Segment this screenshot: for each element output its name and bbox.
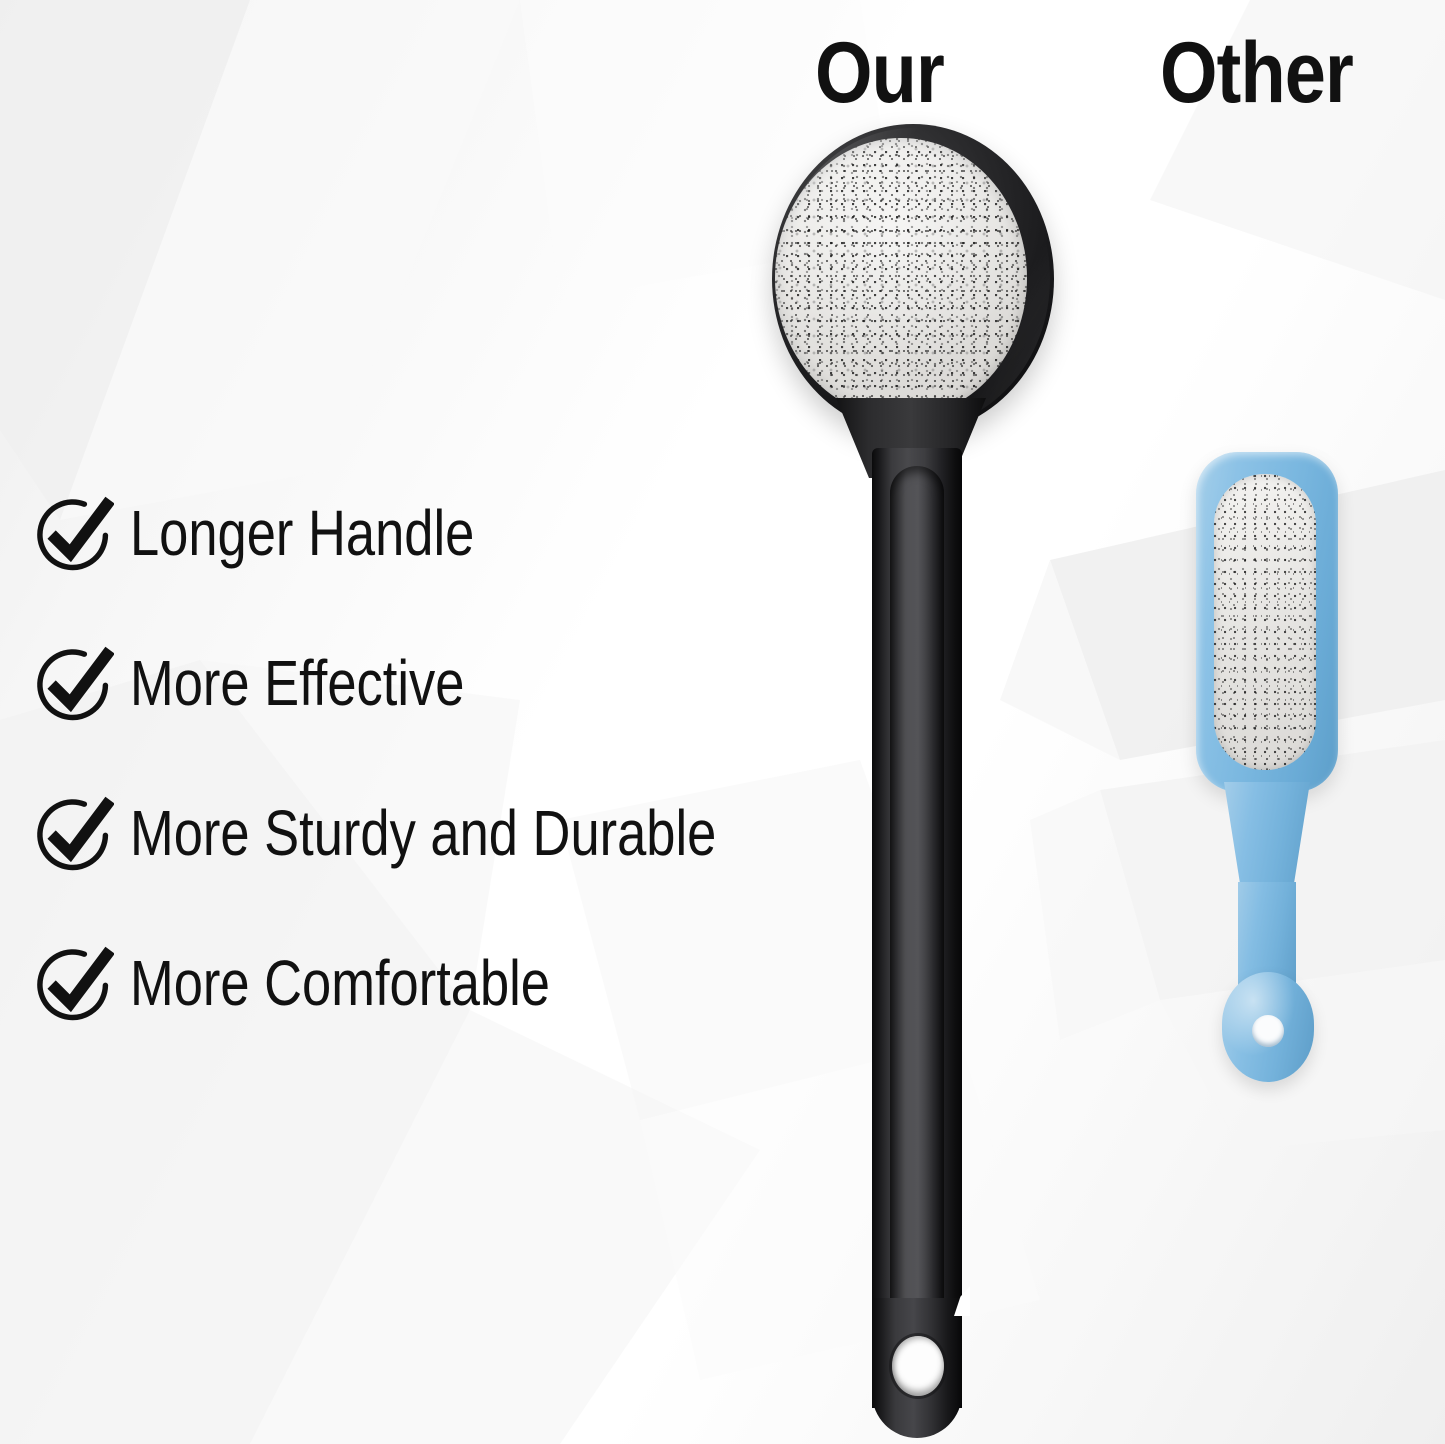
our-hanging-hole — [892, 1336, 944, 1396]
heading-our: Our — [815, 30, 944, 116]
our-handle-groove — [890, 466, 944, 1401]
feature-list: Longer Handle More Effective More Sturdy… — [36, 498, 796, 1098]
other-hanging-hole — [1252, 1015, 1284, 1047]
our-pumice-stone-head — [775, 138, 1027, 418]
check-circle-icon — [36, 494, 114, 572]
comparison-graphic: Our Other Longer Handle More Effective M… — [0, 0, 1445, 1444]
feature-label: More Comfortable — [130, 951, 550, 1015]
product-other — [1188, 452, 1368, 1072]
check-circle-icon — [36, 944, 114, 1022]
feature-item-more-sturdy-and-durable: More Sturdy and Durable — [36, 798, 796, 868]
feature-item-longer-handle: Longer Handle — [36, 498, 796, 568]
feature-label: Longer Handle — [130, 501, 474, 565]
feature-label: More Effective — [130, 651, 464, 715]
feature-item-more-comfortable: More Comfortable — [36, 948, 796, 1018]
feature-label: More Sturdy and Durable — [130, 801, 716, 865]
other-pumice-pad — [1214, 474, 1316, 770]
heading-other: Other — [1160, 30, 1353, 116]
product-ours — [740, 118, 1080, 1438]
check-circle-icon — [36, 794, 114, 872]
feature-item-more-effective: More Effective — [36, 648, 796, 718]
check-circle-icon — [36, 644, 114, 722]
